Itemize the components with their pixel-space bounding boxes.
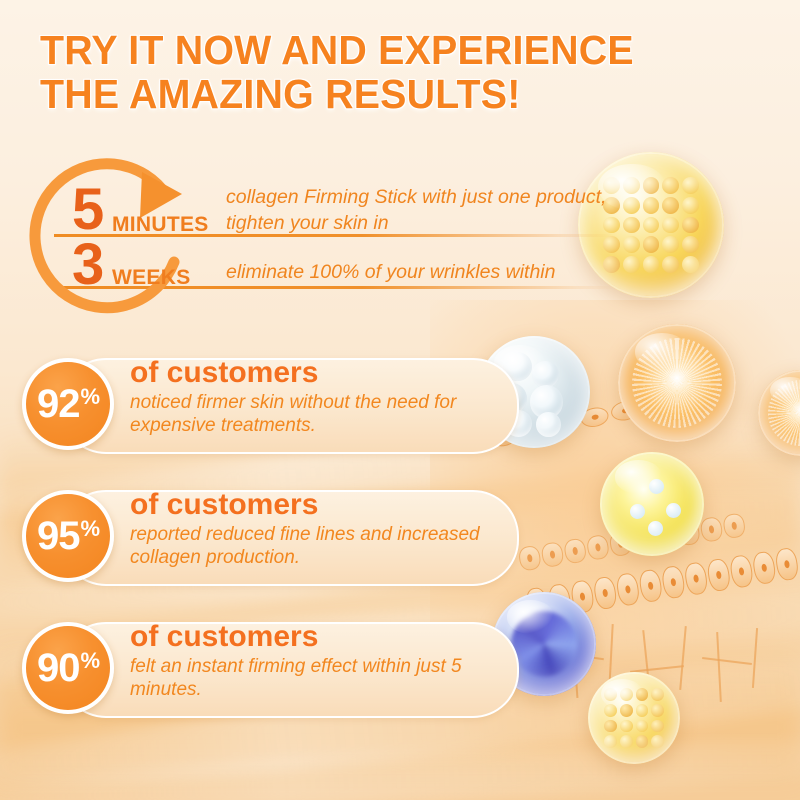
stat-percent: 95% xyxy=(37,516,99,556)
stat-text: of customers felt an instant firming eff… xyxy=(130,622,530,702)
timing-block: 5 MINUTES collagen Firming Stick with ju… xyxy=(24,150,644,325)
stat-percent: 90% xyxy=(37,648,99,688)
skin-cell-column-upper xyxy=(518,512,747,571)
amber-burst-sphere-small xyxy=(758,370,800,456)
stat-body: noticed firmer skin without the need for… xyxy=(130,391,530,439)
stat-heading: of customers xyxy=(130,622,530,653)
stat-heading: of customers xyxy=(130,490,530,521)
stat-percent: 92% xyxy=(37,384,99,424)
stat-badge: 92% xyxy=(22,358,114,450)
skin-cell-column xyxy=(524,547,800,621)
timing-text-2: eliminate 100% of your wrinkles within xyxy=(226,260,646,286)
stat-body: reported reduced fine lines and increase… xyxy=(130,523,530,571)
stat-text: of customers reported reduced fine lines… xyxy=(130,490,530,570)
stat-body: felt an instant firming effect within ju… xyxy=(130,655,530,703)
honeycomb-serum-sphere-small xyxy=(588,672,680,764)
timing-number-1: 5 xyxy=(72,181,104,239)
timing-text-1: collagen Firming Stick with just one pro… xyxy=(226,185,646,236)
stat-badge: 90% xyxy=(22,622,114,714)
amber-burst-sphere xyxy=(618,324,736,442)
promo-poster: TRY IT NOW AND EXPERIENCE THE AMAZING RE… xyxy=(0,0,800,800)
timing-unit-2: WEEKS xyxy=(112,266,191,290)
stat-badge: 95% xyxy=(22,490,114,582)
page-title: TRY IT NOW AND EXPERIENCE THE AMAZING RE… xyxy=(40,28,712,117)
stat-text: of customers noticed firmer skin without… xyxy=(130,358,530,438)
timing-number-2: 3 xyxy=(72,236,104,294)
lemon-molecule-sphere xyxy=(600,452,704,556)
timing-unit-1: MINUTES xyxy=(112,213,209,237)
stat-heading: of customers xyxy=(130,358,530,389)
